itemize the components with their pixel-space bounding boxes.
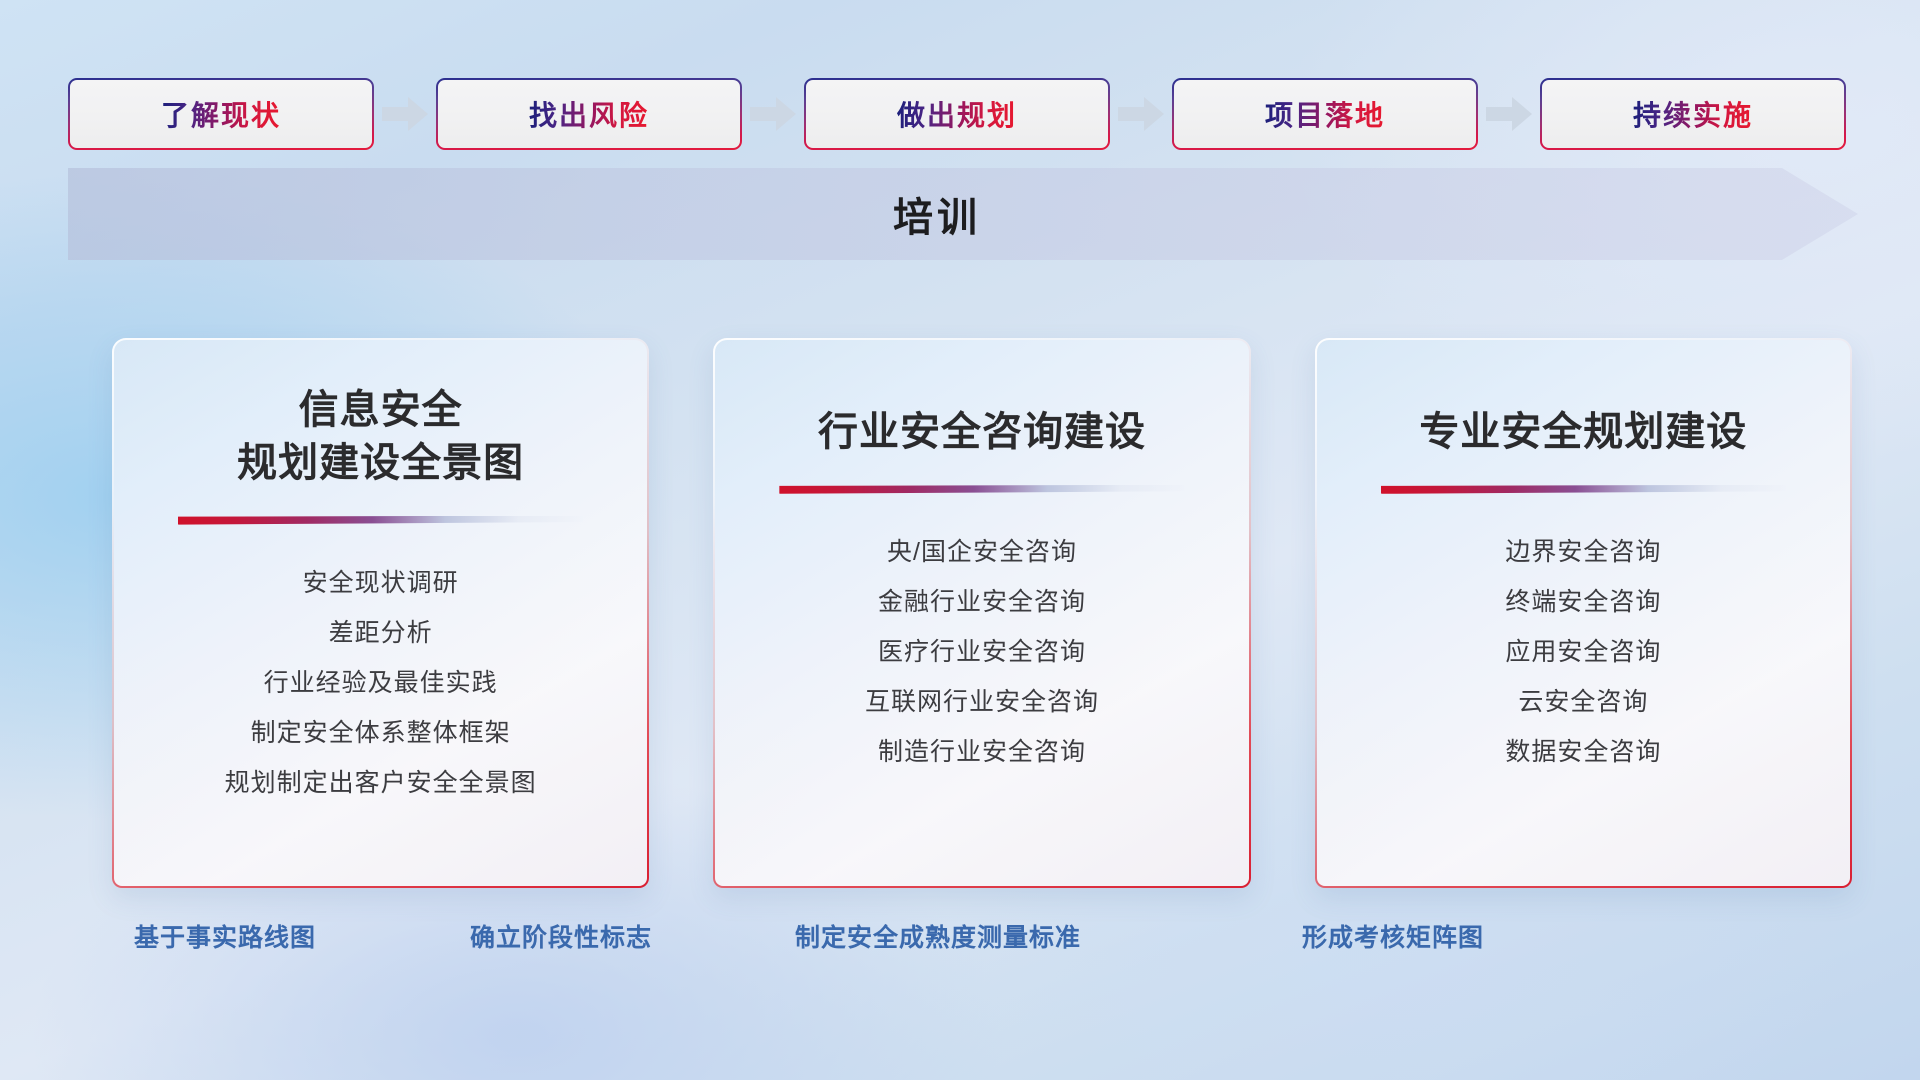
list-item: 数据安全咨询 — [1505, 732, 1661, 772]
arrow-right-icon — [1110, 97, 1172, 131]
slide-canvas: 了解现状 找出风险 做出规划 项目落地 — [0, 0, 1920, 1080]
training-banner-label: 培训 — [68, 168, 1858, 260]
card-1-divider — [178, 516, 583, 525]
flow-step-3-label: 做出规划 — [897, 94, 1017, 134]
list-item: 终端安全咨询 — [1505, 582, 1661, 622]
flow-step-3[interactable]: 做出规划 — [804, 78, 1110, 150]
card-information-security-blueprint[interactable]: 信息安全 规划建设全景图 安全现状调研 差距分析 行业经验及最佳实践 制定安全体… — [112, 338, 649, 888]
flow-step-4[interactable]: 项目落地 — [1172, 78, 1478, 150]
caption-row: 基于事实路线图 确立阶段性标志 制定安全成熟度测量标准 形成考核矩阵图 — [0, 918, 1920, 968]
process-flow-row: 了解现状 找出风险 做出规划 项目落地 — [68, 78, 1852, 150]
list-item: 行业经验及最佳实践 — [264, 663, 498, 703]
caption-maturity-standard: 制定安全成熟度测量标准 — [795, 918, 1081, 954]
training-banner: 培训 — [68, 168, 1858, 260]
flow-step-2[interactable]: 找出风险 — [436, 78, 742, 150]
card-2-list: 央/国企安全咨询 金融行业安全咨询 医疗行业安全咨询 互联网行业安全咨询 制造行… — [865, 532, 1099, 772]
card-2-title: 行业安全咨询建设 — [818, 406, 1146, 459]
flow-step-4-body: 项目落地 — [1174, 80, 1476, 148]
list-item: 医疗行业安全咨询 — [878, 632, 1086, 672]
arrow-right-icon — [374, 97, 436, 131]
card-1-body: 信息安全 规划建设全景图 安全现状调研 差距分析 行业经验及最佳实践 制定安全体… — [114, 340, 647, 886]
flow-step-5[interactable]: 持续实施 — [1540, 78, 1846, 150]
list-item: 制定安全体系整体框架 — [251, 713, 511, 753]
list-item: 互联网行业安全咨询 — [865, 682, 1099, 722]
card-2-body: 行业安全咨询建设 央/国企安全咨询 金融行业安全咨询 医疗行业安全咨询 互联网行… — [715, 340, 1248, 886]
card-2-divider — [779, 485, 1184, 494]
card-3-divider — [1381, 485, 1786, 494]
card-row: 信息安全 规划建设全景图 安全现状调研 差距分析 行业经验及最佳实践 制定安全体… — [112, 338, 1852, 888]
flow-step-1-label: 了解现状 — [161, 94, 281, 134]
list-item: 规划制定出客户安全全景图 — [225, 763, 537, 803]
card-3-title: 专业安全规划建设 — [1419, 406, 1747, 459]
arrow-right-icon — [742, 97, 804, 131]
flow-step-5-label: 持续实施 — [1633, 94, 1753, 134]
card-industry-security-consulting[interactable]: 行业安全咨询建设 央/国企安全咨询 金融行业安全咨询 医疗行业安全咨询 互联网行… — [713, 338, 1250, 888]
caption-roadmap: 基于事实路线图 — [134, 918, 316, 954]
list-item: 差距分析 — [329, 613, 433, 653]
card-3-body: 专业安全规划建设 边界安全咨询 终端安全咨询 应用安全咨询 云安全咨询 数据安全… — [1317, 340, 1850, 886]
caption-assessment-matrix: 形成考核矩阵图 — [1302, 918, 1484, 954]
list-item: 云安全咨询 — [1518, 682, 1648, 722]
flow-step-1[interactable]: 了解现状 — [68, 78, 374, 150]
card-professional-security-planning[interactable]: 专业安全规划建设 边界安全咨询 终端安全咨询 应用安全咨询 云安全咨询 数据安全… — [1315, 338, 1852, 888]
list-item: 边界安全咨询 — [1505, 532, 1661, 572]
caption-milestones: 确立阶段性标志 — [470, 918, 652, 954]
card-3-list: 边界安全咨询 终端安全咨询 应用安全咨询 云安全咨询 数据安全咨询 — [1505, 532, 1661, 772]
arrow-right-icon — [1478, 97, 1540, 131]
card-1-title: 信息安全 规划建设全景图 — [237, 384, 524, 490]
list-item: 央/国企安全咨询 — [887, 532, 1077, 572]
flow-step-5-body: 持续实施 — [1542, 80, 1844, 148]
flow-step-4-label: 项目落地 — [1265, 94, 1385, 134]
list-item: 金融行业安全咨询 — [878, 582, 1086, 622]
list-item: 制造行业安全咨询 — [878, 732, 1086, 772]
list-item: 安全现状调研 — [303, 563, 459, 603]
card-1-list: 安全现状调研 差距分析 行业经验及最佳实践 制定安全体系整体框架 规划制定出客户… — [225, 563, 537, 803]
flow-step-2-label: 找出风险 — [529, 94, 649, 134]
flow-step-3-body: 做出规划 — [806, 80, 1108, 148]
flow-step-2-body: 找出风险 — [438, 80, 740, 148]
list-item: 应用安全咨询 — [1505, 632, 1661, 672]
flow-step-1-body: 了解现状 — [70, 80, 372, 148]
